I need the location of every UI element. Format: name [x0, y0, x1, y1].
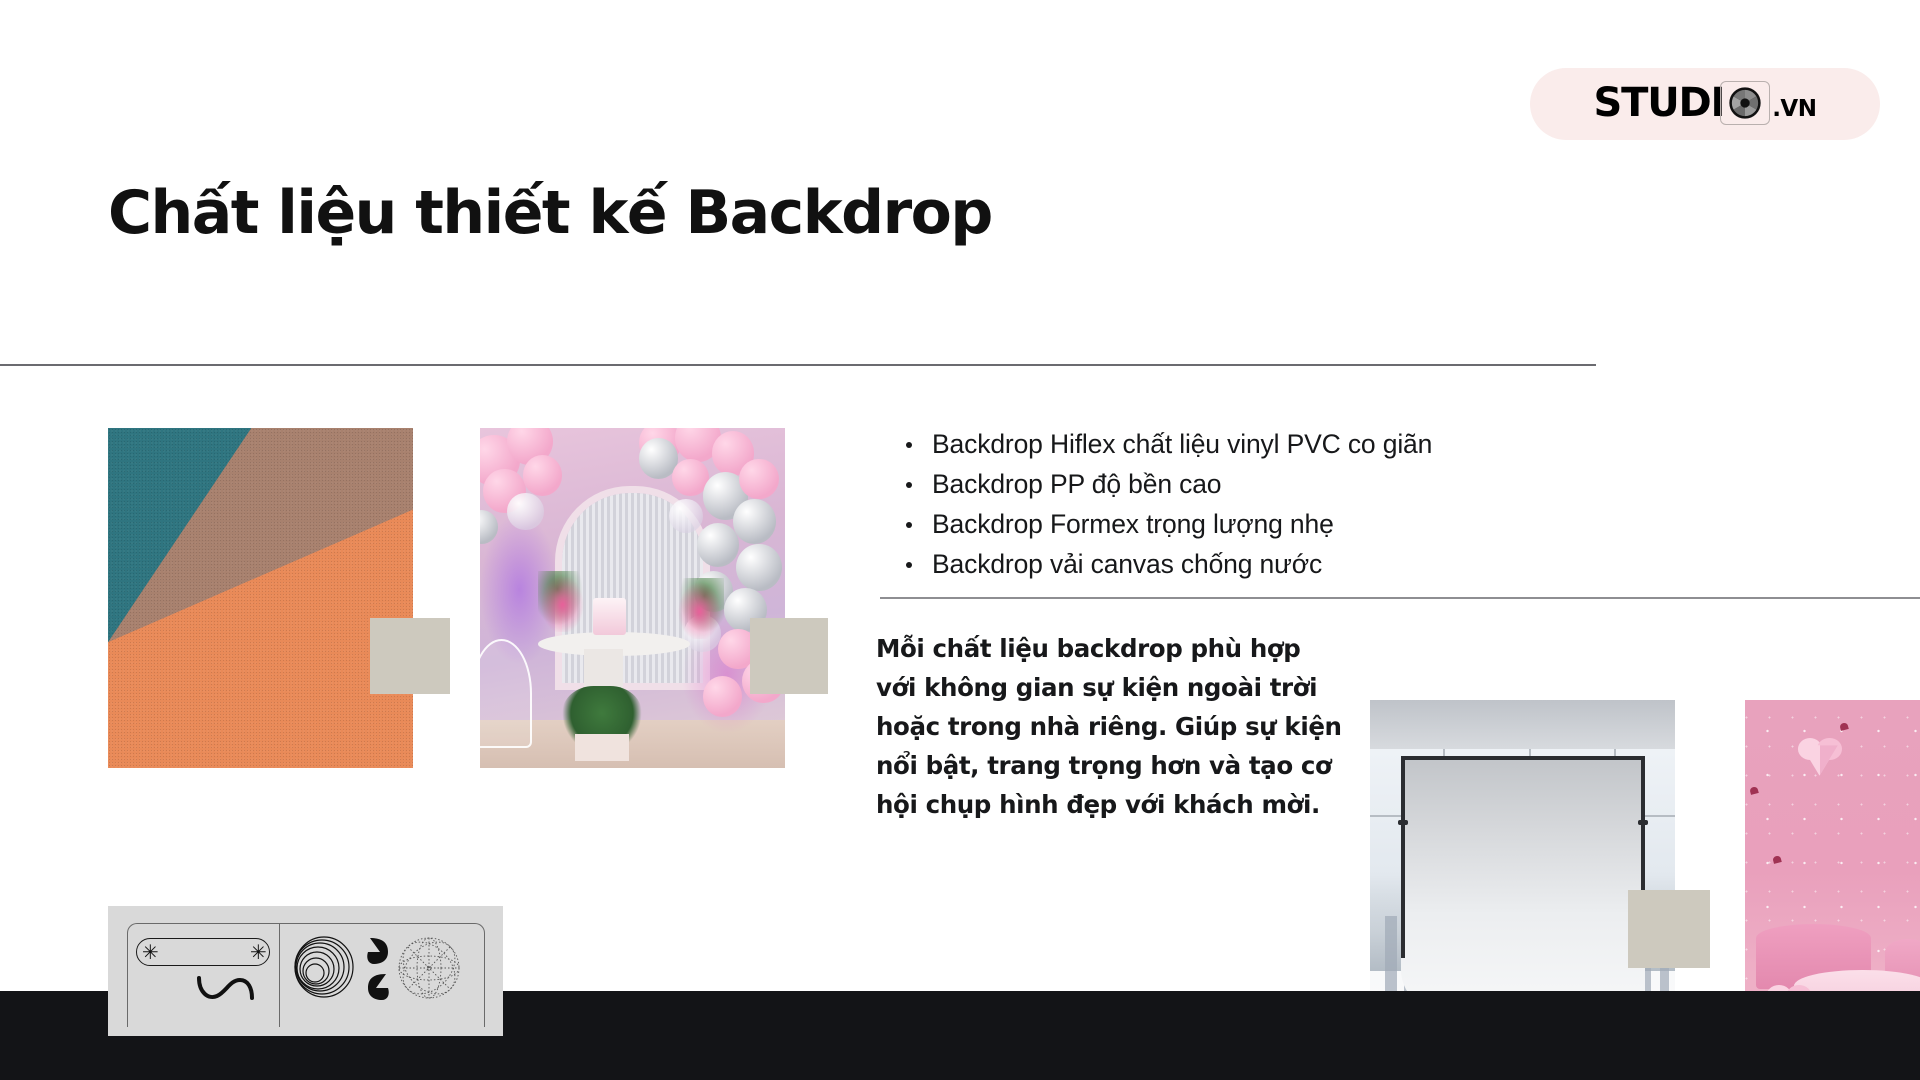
description-paragraph: Mỗi chất liệu backdrop phù hợp với không…	[876, 629, 1346, 824]
slide-canvas: STUDI .VN Chất	[0, 0, 1920, 1080]
backdrop-crossbar	[1401, 756, 1645, 760]
logo-inner: STUDI .VN	[1594, 67, 1817, 139]
seamless-paper	[1401, 759, 1645, 1010]
balloon	[507, 493, 544, 530]
felt-grain-texture	[108, 428, 413, 768]
list-item: Backdrop Hiflex chất liệu vinyl PVC co g…	[905, 424, 1545, 464]
planter-box	[575, 734, 630, 761]
photo-party-backdrop	[480, 428, 785, 768]
mini-heart-icon	[1772, 855, 1782, 864]
wave-line-icon	[196, 976, 258, 1002]
logo-wordmark: STUDI	[1594, 83, 1725, 123]
birthday-cake	[593, 598, 627, 635]
balloon	[669, 499, 703, 533]
balloon	[703, 676, 743, 717]
accent-square	[750, 618, 828, 694]
accent-square	[370, 618, 450, 694]
mini-heart-icon	[1839, 722, 1849, 731]
mini-heart-icon	[1749, 786, 1759, 795]
flower-arrangement	[675, 578, 724, 639]
accent-square	[1628, 890, 1710, 968]
concentric-rings-icon	[288, 933, 354, 1003]
photo-felt-swatch	[108, 428, 413, 768]
dotted-compass-icon	[396, 933, 462, 1003]
list-item: Backdrop Formex trọng lượng nhẹ	[905, 504, 1545, 544]
divider-middle	[880, 597, 1920, 599]
list-item: Backdrop vải canvas chống nước	[905, 544, 1545, 584]
page-title: Chất liệu thiết kế Backdrop	[108, 178, 992, 248]
balloon	[697, 523, 740, 567]
balloon	[523, 455, 563, 496]
flower-arrangement	[538, 571, 587, 632]
ceiling	[1370, 700, 1675, 749]
asterisk-icon: ✳	[142, 944, 159, 960]
balloon	[739, 459, 779, 500]
leaf-pair-icon	[366, 936, 390, 1002]
list-item: Backdrop PP độ bền cao	[905, 464, 1545, 504]
camera-aperture-icon	[1720, 81, 1770, 125]
balloon	[733, 499, 776, 543]
logo-tld: .VN	[1772, 98, 1816, 121]
material-bullet-list: Backdrop Hiflex chất liệu vinyl PVC co g…	[905, 424, 1545, 584]
divider-top	[0, 364, 1596, 366]
decor-divider	[279, 923, 280, 1027]
balloon	[736, 544, 782, 592]
backdrop-stand-left	[1401, 756, 1405, 958]
abstract-decor-panel: ✳ ✳	[108, 906, 503, 1036]
asterisk-icon: ✳	[250, 944, 267, 960]
studio-vn-logo[interactable]: STUDI .VN	[1530, 68, 1880, 140]
